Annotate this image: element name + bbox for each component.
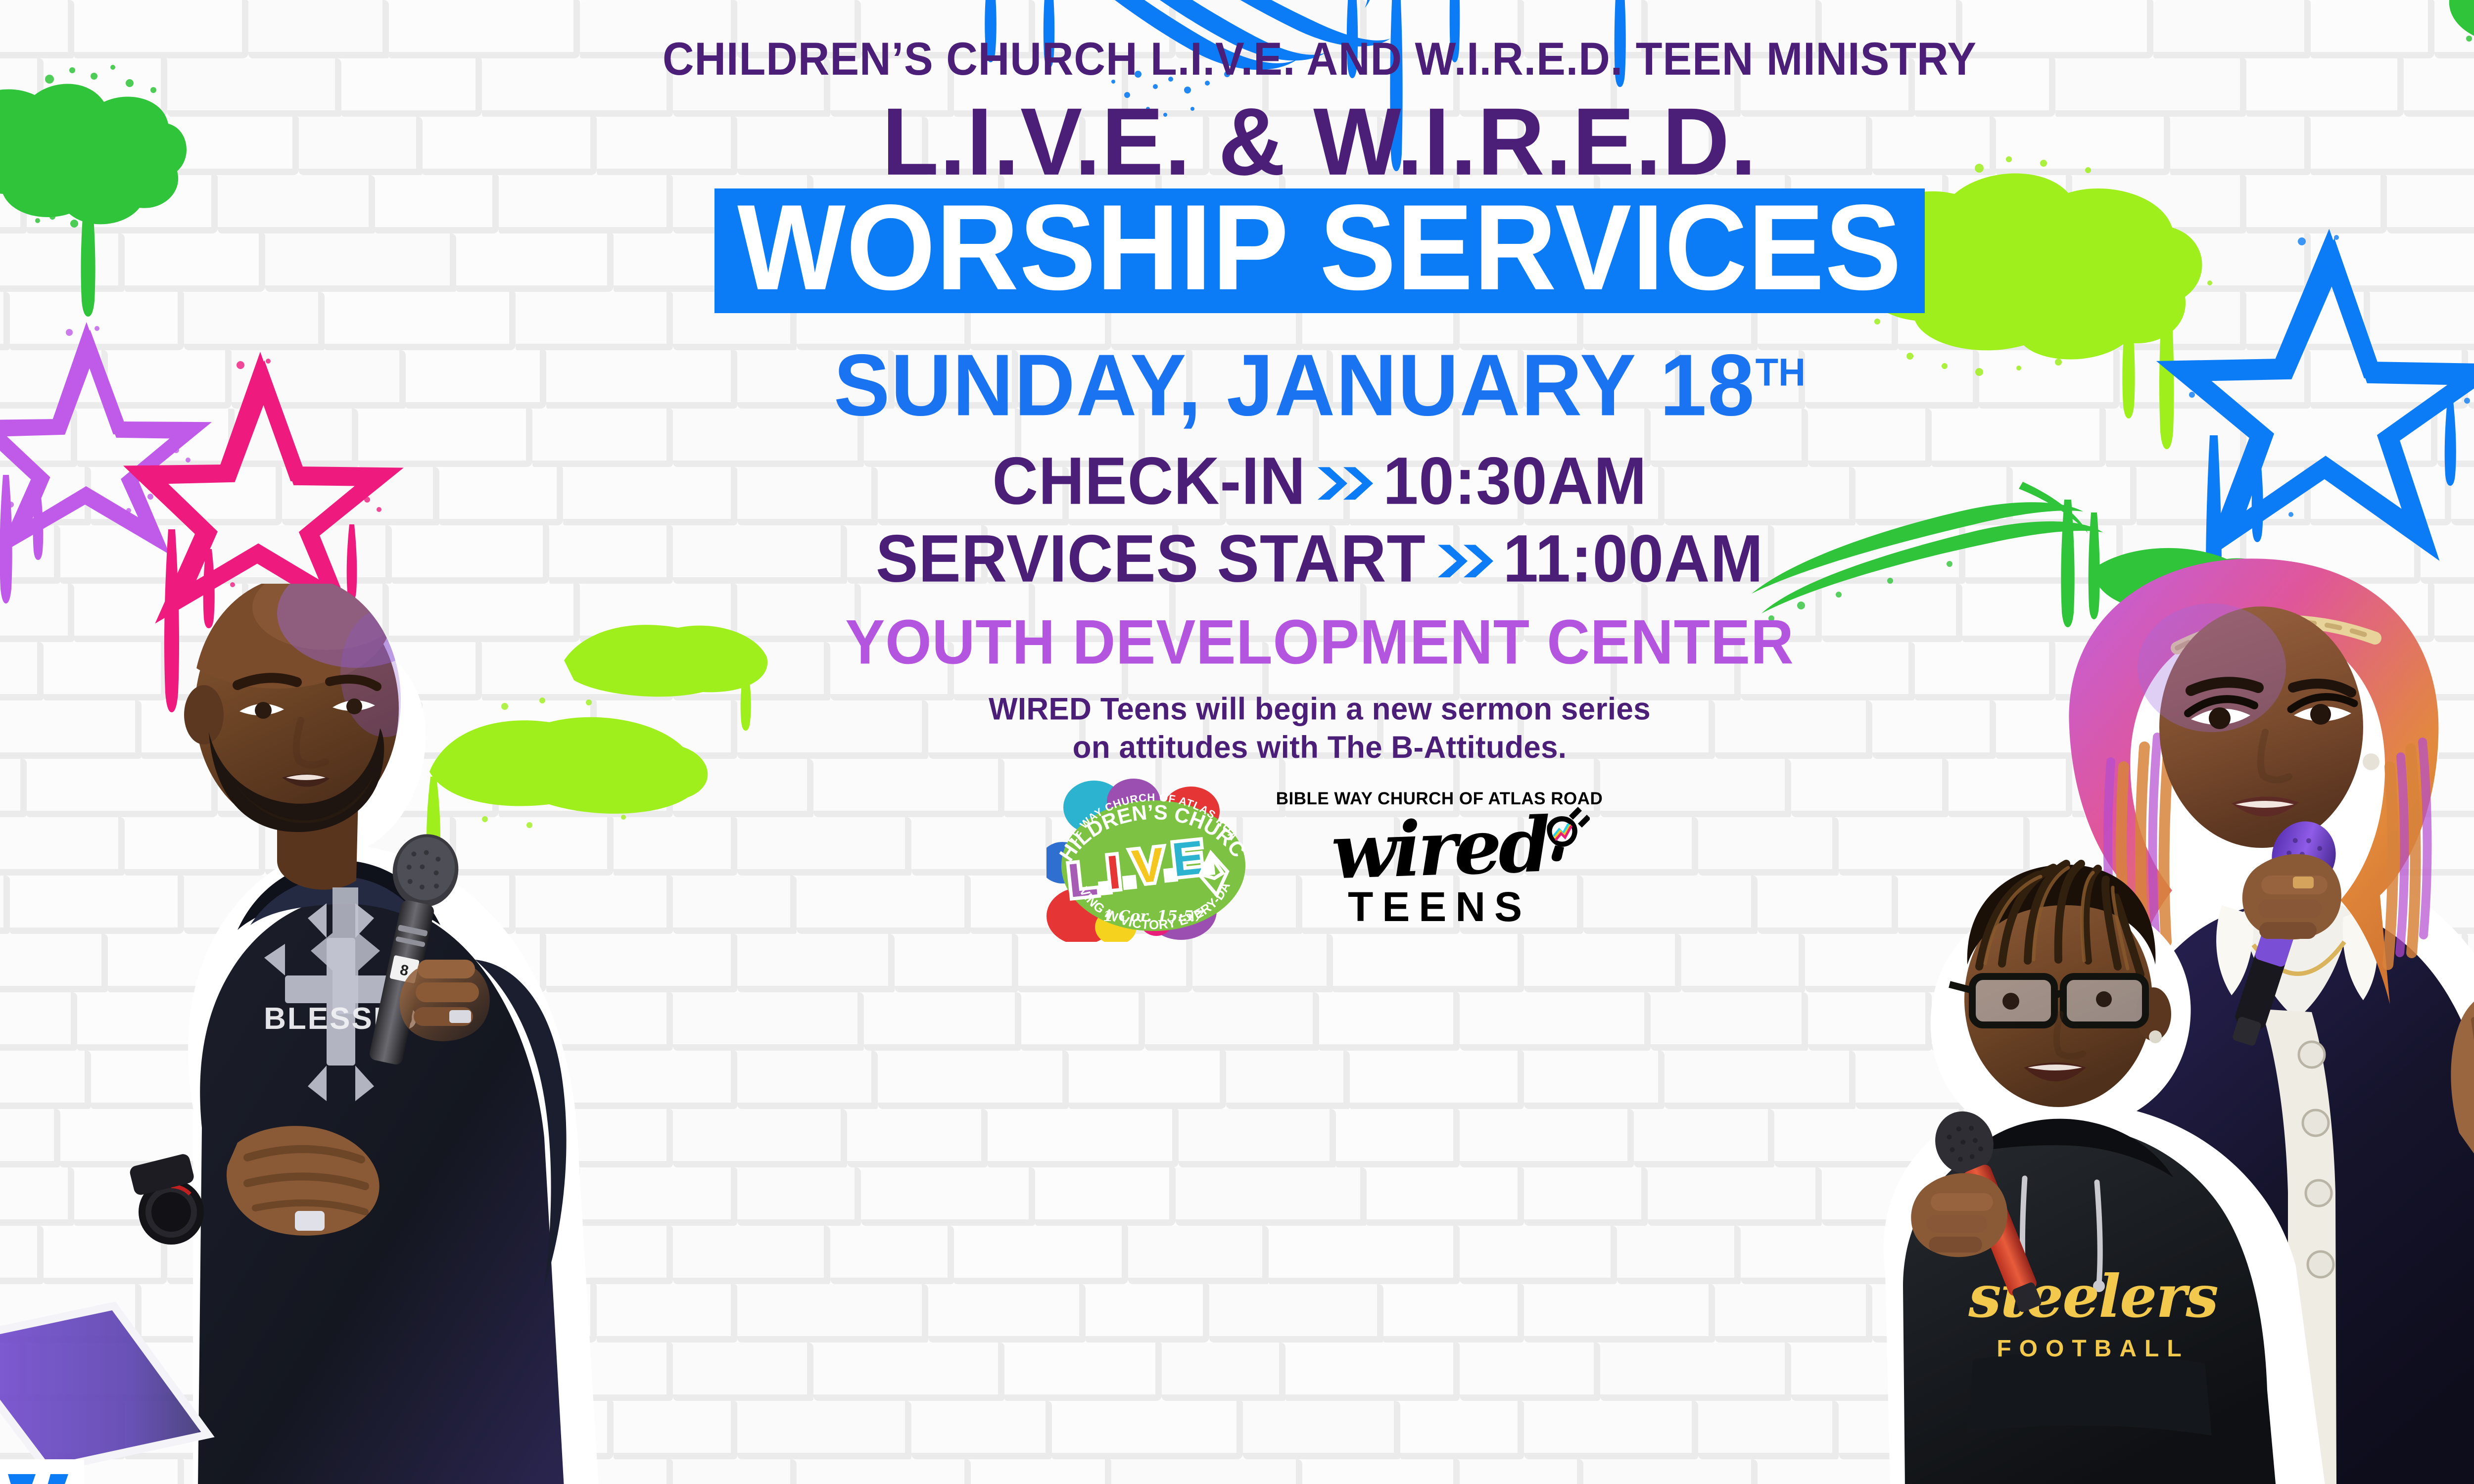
wired-logo-subtitle: TEENS [1348, 883, 1531, 931]
logo-row: BIBLE WAY CHURCH OF ATLAS ROAD’S CHILDRE… [1047, 779, 1593, 942]
sermon-note-line-2: on attitudes with The B-Attitudes. [989, 729, 1651, 767]
services-label: SERVICES START [876, 520, 1426, 598]
services-row: SERVICES START 11:00AM [876, 520, 1763, 598]
checkin-label: CHECK-IN [992, 443, 1306, 520]
checkin-time: 10:30AM [1383, 443, 1647, 520]
sermon-series-note: WIRED Teens will begin a new sermon seri… [989, 691, 1651, 767]
services-time: 11:00AM [1503, 520, 1763, 598]
sermon-note-line-1: WIRED Teens will begin a new sermon seri… [989, 691, 1651, 729]
wired-logo-wordmark: wired [1330, 800, 1549, 896]
plug-icon [1530, 803, 1590, 862]
eyebrow-text: CHILDREN’S CHURCH L.I.V.E. AND W.I.R.E.D… [663, 32, 1977, 86]
wired-teens-logo: BIBLE WAY CHURCH OF ATLAS ROAD wired TEE… [1286, 786, 1593, 934]
chevron-right-icon [1315, 464, 1374, 503]
page-title: L.I.V.E. & W.I.R.E.D. [882, 97, 1757, 185]
worship-services-banner: WORSHIP SERVICES [714, 188, 1925, 313]
live-logo-scripture: 1 Cor. 15:57 [1103, 908, 1204, 925]
chevron-right-icon-2 [1435, 542, 1494, 580]
checkin-row: CHECK-IN 10:30AM [992, 443, 1647, 520]
event-date-ordinal: TH [1756, 351, 1806, 394]
event-date: SUNDAY, JANUARY 18TH [834, 335, 1806, 436]
venue-name: YOUTH DEVELOPMENT CENTER [845, 606, 1794, 678]
event-date-main: SUNDAY, JANUARY 18 [834, 336, 1756, 434]
banner-label: WORSHIP SERVICES [737, 194, 1902, 301]
childrens-church-live-logo: BIBLE WAY CHURCH OF ATLAS ROAD’S CHILDRE… [1047, 779, 1259, 942]
